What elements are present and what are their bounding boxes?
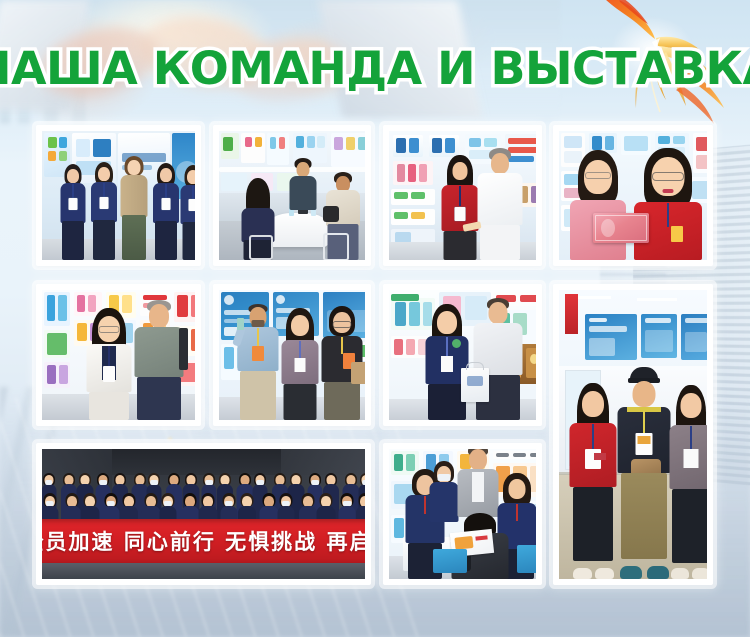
page-title: НАША КОМАНДА И ВЫСТАВКА [0, 44, 750, 94]
banknote [593, 213, 649, 243]
gallery-photo-7[interactable] [383, 284, 542, 426]
banner-title-container: НАША КОМАНДА И ВЫСТАВКА [0, 40, 750, 98]
face-mask [45, 501, 54, 507]
gift-bag [461, 368, 489, 402]
red-celebration-banner: 全员加速 同心前行 无惧挑战 再启 [42, 519, 365, 563]
gallery-photo-1[interactable] [36, 125, 201, 266]
face-mask [205, 480, 213, 485]
gallery-photo-10[interactable] [383, 443, 542, 585]
photo-1-image [42, 131, 195, 260]
photo-2-image [219, 131, 365, 260]
banner-text: 全员加速 同心前行 无惧挑战 再启 [42, 526, 365, 556]
photo-8-image [559, 290, 707, 579]
face-mask [100, 480, 108, 485]
gallery-photo-2[interactable] [213, 125, 371, 266]
photo-9-image: 全员加速 同心前行 无惧挑战 再启 [42, 449, 365, 579]
face-mask [282, 501, 291, 507]
gallery-photo-4[interactable] [553, 125, 713, 266]
face-mask [45, 480, 53, 485]
photo-10-image [389, 449, 536, 579]
photo-3-image [389, 131, 536, 260]
face-mask [106, 501, 115, 507]
face-mask [225, 501, 234, 507]
face-mask [311, 480, 319, 485]
face-mask [256, 480, 264, 485]
promo-banner: НАША КОМАНДА И ВЫСТАВКА [0, 0, 750, 637]
face-mask [150, 480, 158, 485]
face-mask [343, 501, 352, 507]
face-mask [163, 501, 172, 507]
photo-6-image [219, 290, 365, 420]
face-mask [362, 480, 365, 485]
gallery-photo-3[interactable] [383, 125, 542, 266]
photo-7-image [389, 290, 536, 420]
gallery-photo-9[interactable]: 全员加速 同心前行 无惧挑战 再启 [36, 443, 371, 585]
gallery-photo-8[interactable] [553, 284, 713, 585]
gallery-photo-6[interactable] [213, 284, 371, 426]
photo-4-image [559, 131, 707, 260]
photo-5-image [42, 290, 195, 420]
gallery-photo-5[interactable] [36, 284, 201, 426]
